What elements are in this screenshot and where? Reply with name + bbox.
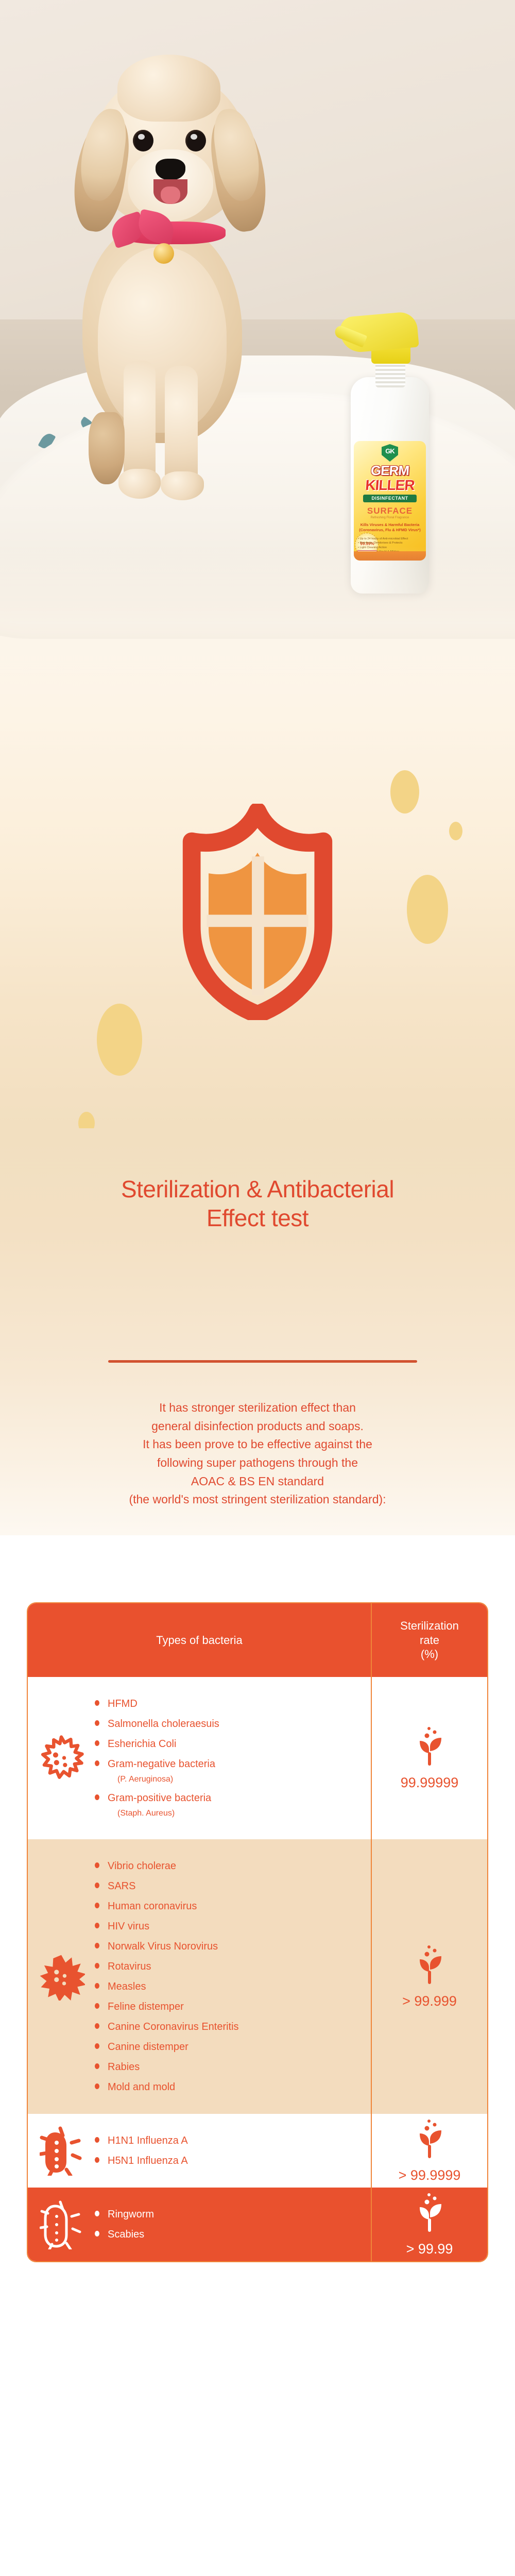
bacillus-icon (28, 2126, 95, 2176)
hero-bottom-fade (0, 546, 515, 716)
list-item-label: HIV virus (108, 1920, 149, 1933)
virus-list: Vibrio cholerae SARS Human coronavirus H… (95, 1839, 371, 2114)
list-item-label: Mold and mold (108, 2080, 175, 2094)
list-item-label: Ringworm (108, 2208, 154, 2221)
table-row: HFMD Salmonella choleraesuis Esherichia … (28, 1677, 487, 1840)
list-item-label: Gram-positive bacteria (108, 1791, 211, 1805)
list-item: H1N1 Influenza A (95, 2134, 366, 2147)
sterilization-rate: 99.99999 (401, 1775, 459, 1791)
table-row: Vibrio cholerae SARS Human coronavirus H… (28, 1839, 487, 2114)
list-item-label: Norwalk Virus Norovirus (108, 1940, 218, 1953)
list-item: Ringworm (95, 2208, 366, 2221)
table-row: H1N1 Influenza A H5N1 Influenza A > 99.9… (28, 2114, 487, 2188)
list-item-label: Rabies (108, 2060, 140, 2074)
intro-paragraph: It has stronger sterilization effect tha… (36, 1399, 479, 1509)
list-item: Rabies (95, 2060, 366, 2074)
list-item: Vibrio cholerae (95, 1859, 366, 1873)
fragrance-label: Refreshing Floral Fragrance (354, 516, 426, 519)
list-item: SARS (95, 1879, 366, 1893)
list-item: HIV virus (95, 1920, 366, 1933)
virus-burst-icon (28, 1953, 95, 2001)
bacillus-outline-icon (28, 2200, 95, 2249)
title-section: Sterilization & Antibacterial Effect tes… (0, 1128, 515, 1535)
brand-germ: GERM (354, 463, 426, 479)
list-item: HFMD (95, 1697, 366, 1710)
shield-section (0, 716, 515, 1128)
column-header-types: Types of bacteria (156, 1633, 243, 1648)
bottle-label: GK GERM KILLER DISINFECTANT SURFACE Refr… (354, 441, 426, 561)
list-item-label: Scabies (108, 2228, 144, 2241)
list-item-label: (P. Aeruginosa) (117, 1774, 173, 1785)
sprout-icon (411, 2118, 448, 2160)
table-header-row: Types of bacteria Sterilization rate (%) (28, 1603, 487, 1677)
title-divider (108, 1360, 417, 1363)
infographic-page: GK GERM KILLER DISINFECTANT SURFACE Refr… (0, 0, 515, 2576)
list-item: H5N1 Influenza A (95, 2154, 366, 2167)
sterilization-rate: > 99.9999 (399, 2167, 461, 2183)
list-item-label: Human coronavirus (108, 1900, 197, 1913)
list-item: Feline distemper (95, 2000, 366, 2013)
sprout-icon (411, 2192, 448, 2234)
surface-label: SURFACE (354, 506, 426, 516)
list-item-label: SARS (108, 1879, 135, 1893)
list-item-label: Salmonella choleraesuis (108, 1717, 219, 1731)
list-item: Gram-negative bacteria (95, 1757, 366, 1771)
list-item-label: Rotavirus (108, 1960, 151, 1973)
list-item: Measles (95, 1980, 366, 1993)
kills-claim: Kills Viruses & Harmful Bacteria (Corona… (357, 522, 423, 533)
brand-killer: KILLER (354, 477, 426, 494)
list-item-label: (Staph. Aureus) (117, 1808, 175, 1819)
list-item: Scabies (95, 2228, 366, 2241)
spiky-bacteria-icon (28, 1734, 95, 1782)
list-item: Gram-positive bacteria (95, 1791, 366, 1805)
list-item-label: H5N1 Influenza A (108, 2154, 188, 2167)
decor-dot (407, 875, 448, 944)
bacteria-table: Types of bacteria Sterilization rate (%) (27, 1602, 488, 2262)
list-item-label: HFMD (108, 1697, 138, 1710)
gk-shield-text: GK (382, 444, 398, 462)
list-item-label: Gram-negative bacteria (108, 1757, 215, 1771)
hero-photo: GK GERM KILLER DISINFECTANT SURFACE Refr… (0, 0, 515, 716)
list-item: Canine Coronavirus Enteritis (95, 2020, 366, 2033)
column-header-rate: Sterilization rate (%) (400, 1619, 459, 1662)
list-item-sub: (P. Aeruginosa) (117, 1774, 366, 1785)
list-item-label: Canine distemper (108, 2040, 188, 2054)
page-title: Sterilization & Antibacterial Effect tes… (0, 1175, 515, 1232)
list-item: Human coronavirus (95, 1900, 366, 1913)
dog-photo-subject (62, 52, 278, 505)
fungal-list: Ringworm Scabies (95, 2188, 371, 2261)
sterilization-rate: > 99.99 (406, 2241, 453, 2257)
list-item-sub: (Staph. Aureus) (117, 1808, 366, 1819)
list-item: Canine distemper (95, 2040, 366, 2054)
list-item-label: Vibrio cholerae (108, 1859, 176, 1873)
list-item-label: Esherichia Coli (108, 1737, 176, 1751)
list-item-label: Canine Coronavirus Enteritis (108, 2020, 239, 2033)
gk-shield-icon: GK (382, 444, 398, 462)
shield-logo (160, 804, 355, 1020)
list-item: Mold and mold (95, 2080, 366, 2094)
bacteria-list: HFMD Salmonella choleraesuis Esherichia … (95, 1677, 371, 1840)
decor-dot (390, 770, 419, 814)
list-item: Salmonella choleraesuis (95, 1717, 366, 1731)
sprout-icon (411, 1944, 448, 1986)
list-item: Rotavirus (95, 1960, 366, 1973)
table-row: Ringworm Scabies > 99.99 (28, 2188, 487, 2261)
shield-icon (160, 804, 355, 1020)
decor-dot (97, 1004, 142, 1076)
list-item-label: H1N1 Influenza A (108, 2134, 188, 2147)
list-item-label: Measles (108, 1980, 146, 1993)
sprout-icon (411, 1725, 448, 1768)
decor-dot (449, 822, 462, 840)
influenza-list: H1N1 Influenza A H5N1 Influenza A (95, 2114, 371, 2188)
decor-dot (78, 1112, 95, 1128)
disinfectant-band: DISINFECTANT (363, 495, 417, 502)
list-item-label: Feline distemper (108, 2000, 184, 2013)
sterilization-rate: > 99.999 (402, 1993, 457, 2009)
list-item: Norwalk Virus Norovirus (95, 1940, 366, 1953)
list-item: Esherichia Coli (95, 1737, 366, 1751)
